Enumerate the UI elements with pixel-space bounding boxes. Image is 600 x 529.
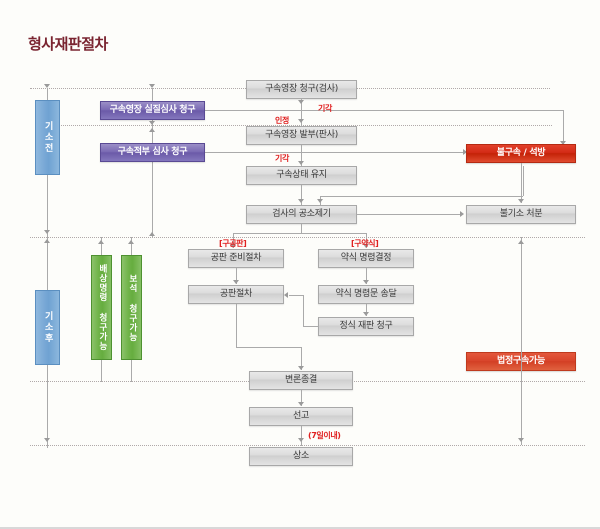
annotation-appeal-deadline: (7일이내)	[308, 430, 341, 441]
flow-label-pretrial-preparation: 공판 준비절차	[211, 253, 261, 263]
phase-box-post-indictment: 기소후	[35, 290, 60, 365]
flow-box-appeal[interactable]: 상소	[249, 447, 353, 466]
flow-box-sentencing[interactable]: 선고	[249, 407, 353, 426]
arrow-appeal-in	[298, 438, 304, 442]
connector-formal-trial-back-h-low	[303, 326, 319, 327]
request-box-detention-legality-review[interactable]: 구속적부 심사 청구	[100, 143, 205, 162]
arrow-formal-trial-back-to-trial	[284, 292, 288, 298]
phase-box-pre-indictment: 기소전	[35, 100, 60, 175]
connector-release-to-prosecution-v	[523, 166, 524, 196]
annotation-dismissal-review: 기각	[275, 153, 289, 164]
arrow-trial-procedure-in	[233, 280, 239, 284]
request-rail-arrow-bottom-up	[149, 232, 155, 236]
flowchart-canvas: 형사재판절차 기소전 기소후 구속영장 실질심사 청구 구속적부 심사 청구 배…	[0, 0, 600, 529]
connector-prosecution-split-h	[233, 233, 366, 234]
flow-label-warrant-request: 구속영장 청구(검사)	[265, 84, 338, 94]
flow-label-closing-arguments: 변론종결	[285, 375, 317, 385]
arrow-non-prosecution-in	[518, 199, 524, 203]
option-arrow-compensation	[98, 240, 104, 244]
flow-label-detention-maintained: 구속상태 유지	[276, 170, 326, 180]
phase-label-pre-indictment: 기소전	[42, 121, 52, 154]
flow-box-warrant-issued[interactable]: 구속영장 발부(판사)	[246, 126, 357, 145]
option-arrow-bail	[128, 240, 134, 244]
flow-label-appeal: 상소	[293, 451, 309, 461]
connector-release-to-non-prosecution	[521, 163, 522, 203]
option-box-bail-request[interactable]: 보석 청구가능	[121, 255, 142, 360]
outcome-label-non-prosecution: 불기소 처분	[500, 209, 542, 219]
arrow-courtroom-detention-bottom	[518, 438, 524, 442]
flow-box-trial-procedure[interactable]: 공판절차	[188, 285, 284, 304]
request-box-warrant-substantive-review[interactable]: 구속영장 실질심사 청구	[100, 101, 205, 120]
connector-courtroom-detention-rail	[521, 237, 522, 445]
connector-prosecution-to-non-prosecution	[357, 214, 460, 215]
arrow-warrant-issued-in	[298, 119, 304, 123]
flow-label-warrant-issued: 구속영장 발부(판사)	[265, 130, 338, 140]
arrow-formal-trial-request-in	[363, 312, 369, 316]
separator-dotted-appeal	[30, 445, 585, 446]
outcome-label-no-detention-release: 불구속 / 석방	[497, 148, 546, 158]
arrow-prosecution-filed-in	[298, 199, 304, 203]
connector-warrant-dismissal-right	[301, 110, 563, 111]
page-title: 형사재판절차	[28, 33, 108, 54]
connector-legality-review-to-release	[205, 152, 463, 153]
arrow-release-into-prosecution	[317, 199, 323, 203]
arrow-closing-arguments-in	[298, 366, 304, 370]
flow-label-summary-order-delivery: 약식 명령문 송달	[336, 289, 397, 299]
arrow-prosecution-to-non-prosecution	[460, 211, 464, 217]
arrow-detention-maintained-in	[298, 161, 304, 165]
arrow-sentencing-in	[298, 402, 304, 406]
annotation-acceptance: 인정	[275, 115, 289, 126]
phase-label-post-indictment: 기소후	[42, 311, 52, 344]
connector-warrant-dismissal-down	[563, 110, 564, 145]
arrow-warrant-request-down	[298, 100, 304, 104]
flow-box-summary-order-delivery[interactable]: 약식 명령문 송달	[318, 285, 414, 304]
connector-formal-trial-back-h-top	[289, 295, 304, 296]
connector-release-to-prosecution-h	[320, 196, 523, 197]
connector-trial-to-closing-h	[236, 347, 301, 348]
flow-box-detention-maintained[interactable]: 구속상태 유지	[246, 166, 357, 185]
outcome-box-no-detention-release[interactable]: 불구속 / 석방	[466, 144, 576, 163]
request-rail-arrow-top	[149, 84, 155, 88]
phase-rail-arrow-mid-up	[44, 239, 50, 243]
flow-box-closing-arguments[interactable]: 변론종결	[249, 371, 353, 390]
phase-rail-arrow-mid	[44, 230, 50, 234]
outcome-box-non-prosecution[interactable]: 불기소 처분	[466, 205, 576, 224]
arrow-summary-delivery-in	[363, 280, 369, 284]
request-label-detention-legality-review: 구속적부 심사 청구	[118, 147, 188, 157]
flow-label-sentencing: 선고	[293, 411, 309, 421]
connector-formal-trial-back-v	[303, 295, 304, 327]
flow-label-prosecution-filed: 검사의 공소제기	[272, 209, 330, 219]
request-rail-arrow-mid-up	[149, 128, 155, 132]
flow-box-prosecution-filed[interactable]: 검사의 공소제기	[246, 205, 357, 224]
annotation-dismissal-warrant: 기각	[318, 103, 332, 114]
connector-prosecution-to-trial-branch-v	[301, 224, 302, 233]
connector-sentencing-to-appeal	[301, 426, 302, 446]
request-label-warrant-substantive-review: 구속영장 실질심사 청구	[110, 105, 195, 115]
annotation-indictment-summary: [구약식]	[351, 238, 378, 249]
flow-label-trial-procedure: 공판절차	[220, 289, 252, 299]
connector-trial-to-closing-v1	[236, 304, 237, 347]
arrow-courtroom-detention-up	[518, 240, 524, 244]
flow-box-formal-trial-request[interactable]: 정식 재판 청구	[318, 317, 414, 336]
option-label-compensation-order: 배상명령 청구가능	[97, 264, 107, 351]
option-box-compensation-order[interactable]: 배상명령 청구가능	[91, 255, 112, 360]
flow-box-warrant-request[interactable]: 구속영장 청구(검사)	[246, 80, 357, 99]
phase-rail-arrow-bottom	[44, 438, 50, 442]
annotation-indictment-trial: [구공판]	[219, 238, 246, 249]
flow-box-summary-order-decision[interactable]: 약식 명령결정	[318, 249, 414, 268]
flow-label-summary-order-decision: 약식 명령결정	[341, 253, 391, 263]
option-label-bail-request: 보석 청구가능	[127, 274, 137, 342]
flow-label-formal-trial-request: 정식 재판 청구	[339, 321, 392, 331]
phase-rail-arrow-top	[44, 84, 50, 88]
separator-dotted-indictment	[30, 237, 585, 238]
flow-box-pretrial-preparation[interactable]: 공판 준비절차	[188, 249, 284, 268]
request-rail-arrow-mid	[149, 121, 155, 125]
